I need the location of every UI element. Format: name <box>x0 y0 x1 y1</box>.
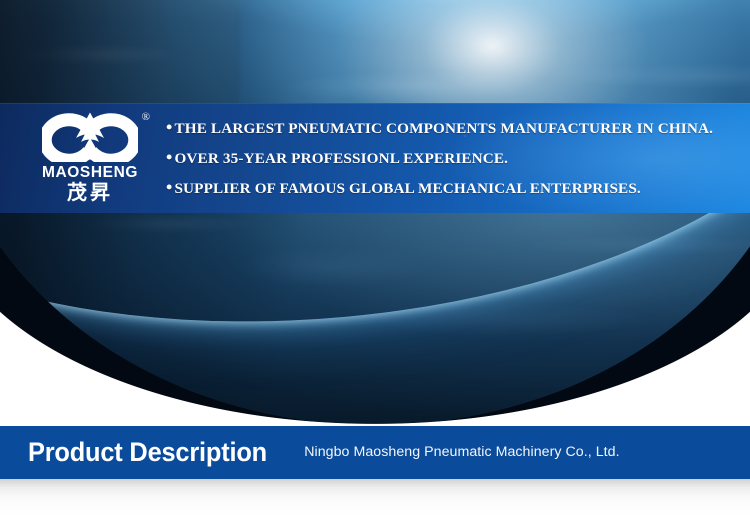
company-logo: ® MAOSHENG 茂昇 <box>26 112 154 204</box>
product-bar-shadow <box>0 479 750 517</box>
logo-name-cn: 茂昇 <box>67 183 113 204</box>
company-name-label: Ningbo Maosheng Pneumatic Machinery Co.,… <box>304 445 619 459</box>
bullet-icon: • <box>166 113 172 142</box>
slogan-item: • OVER 35-YEAR PROFESSIONL EXPERIENCE. <box>166 143 750 173</box>
slogan-text: THE LARGEST PNEUMATIC COMPONENTS MANUFAC… <box>174 114 713 143</box>
maosheng-logo-icon: ® <box>42 112 138 162</box>
slogan-item: • THE LARGEST PNEUMATIC COMPONENTS MANUF… <box>166 113 750 143</box>
bullet-icon: • <box>166 173 172 202</box>
product-description-bar: Product Description Ningbo Maosheng Pneu… <box>0 426 750 479</box>
slogan-text: OVER 35-YEAR PROFESSIONL EXPERIENCE. <box>174 144 508 173</box>
slogan-banner: ® MAOSHENG 茂昇 • THE LARGEST PNEUMATIC CO… <box>0 103 750 213</box>
product-description-banner: ® MAOSHENG 茂昇 • THE LARGEST PNEUMATIC CO… <box>0 0 750 517</box>
slogan-text: SUPPLIER OF FAMOUS GLOBAL MECHANICAL ENT… <box>174 174 640 203</box>
logo-name-en: MAOSHENG <box>42 165 138 181</box>
product-description-title: Product Description <box>28 439 267 466</box>
registered-trademark-icon: ® <box>142 111 150 123</box>
slogan-list: • THE LARGEST PNEUMATIC COMPONENTS MANUF… <box>166 113 750 203</box>
slogan-item: • SUPPLIER OF FAMOUS GLOBAL MECHANICAL E… <box>166 173 750 203</box>
bullet-icon: • <box>166 143 172 172</box>
